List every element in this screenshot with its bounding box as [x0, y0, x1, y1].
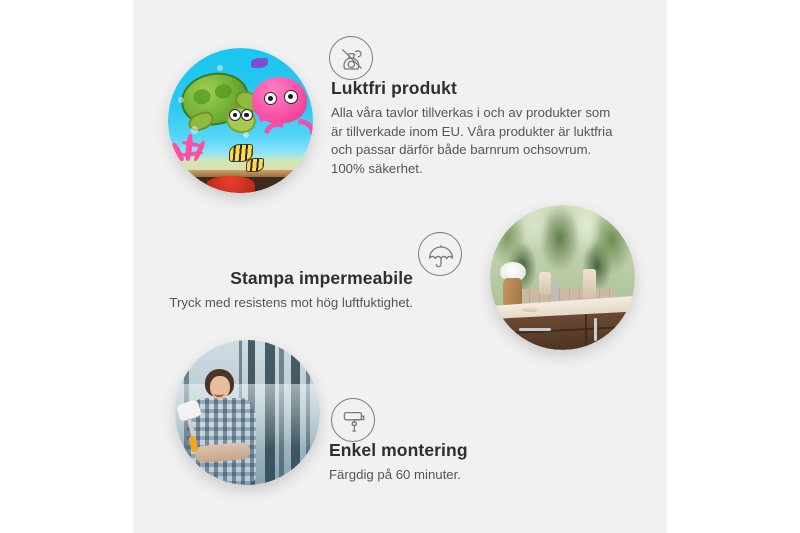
- bubble: [191, 126, 198, 133]
- content-panel: Luktfri produkt Alla våra tavlor tillver…: [133, 0, 667, 533]
- woman-paint-roller-forest-photo: [175, 340, 320, 485]
- cabinet-handle: [594, 318, 597, 341]
- soap-bottle-right: [583, 269, 596, 298]
- umbrella-icon: [418, 232, 462, 276]
- turtle-eye-right: [241, 109, 253, 121]
- crab: [206, 176, 255, 193]
- promo-graphic: Luktfri produkt Alla våra tavlor tillver…: [0, 0, 800, 533]
- bubble: [178, 97, 184, 103]
- striped-fish-2: [246, 158, 264, 172]
- cabinet-seam: [584, 314, 586, 350]
- feature-odourless-text: Luktfri produkt Alla våra tavlor tillver…: [331, 78, 621, 179]
- bathroom-tropical-wallpaper-photo: [490, 205, 635, 350]
- paint-roller-icon: [331, 398, 375, 442]
- underwater-cartoon-mural-photo: [168, 48, 313, 193]
- octopus-eye-right: [284, 90, 298, 104]
- feature-title: Enkel montering: [329, 440, 589, 461]
- feature-easy-install-text: Enkel montering Färgdig på 60 minuter.: [329, 440, 589, 485]
- coral: [171, 132, 220, 176]
- no-fragrance-icon: [329, 36, 373, 80]
- feature-waterproof-text: Stampa impermeabile Tryck med resistens …: [153, 268, 413, 313]
- faucet: [554, 280, 558, 303]
- turtle-eye-left: [229, 109, 241, 121]
- feature-title: Stampa impermeabile: [153, 268, 413, 289]
- drawer-handle: [519, 328, 551, 331]
- feature-body: Alla våra tavlor tillverkas i och av pro…: [331, 104, 621, 179]
- feature-body: Tryck med resistens mot hög luftfuktighe…: [153, 294, 413, 313]
- feature-title: Luktfri produkt: [331, 78, 621, 99]
- soap-bottle-left: [539, 272, 551, 295]
- feature-body: Färgdig på 60 minuter.: [329, 466, 589, 485]
